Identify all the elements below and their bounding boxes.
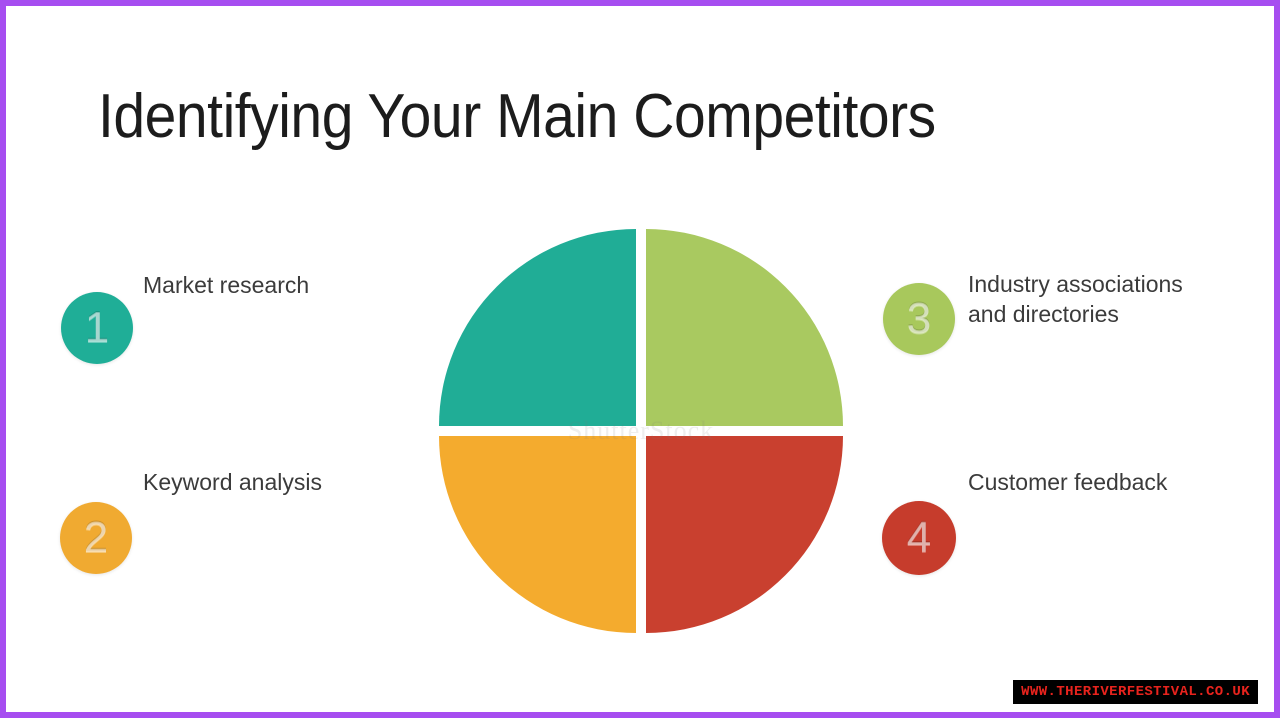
step-badge-3[interactable]: 3 <box>883 283 955 355</box>
slide-content-area: Identifying Your Main Competitors Shutte… <box>6 6 1274 712</box>
pie-slice-keyword-analysis[interactable] <box>439 436 636 633</box>
pie-slice-customer-feedback[interactable] <box>646 436 843 633</box>
pie-slice-fill <box>646 436 843 633</box>
step-label-4: Customer feedback <box>968 467 1167 497</box>
pie-slice-fill <box>439 436 636 633</box>
step-label-1: Market research <box>143 270 309 300</box>
step-badge-4[interactable]: 4 <box>882 501 956 575</box>
page-title: Identifying Your Main Competitors <box>98 86 936 148</box>
step-badge-number: 1 <box>85 306 109 350</box>
step-badge-1[interactable]: 1 <box>61 292 133 364</box>
step-badge-2[interactable]: 2 <box>60 502 132 574</box>
pie-slice-fill <box>439 229 636 426</box>
pie-slice-fill <box>646 229 843 426</box>
step-badge-number: 3 <box>907 297 931 341</box>
step-label-2: Keyword analysis <box>143 467 322 497</box>
site-url-watermark: WWW.THERIVERFESTIVAL.CO.UK <box>1013 680 1258 704</box>
step-badge-number: 4 <box>907 516 931 560</box>
pie-chart: ShutterStock <box>435 225 847 637</box>
step-label-3: Industry associations and directories <box>968 269 1183 329</box>
slide-canvas: Identifying Your Main Competitors Shutte… <box>0 0 1280 718</box>
pie-slice-industry-associations[interactable] <box>646 229 843 426</box>
step-badge-number: 2 <box>84 516 108 560</box>
pie-slice-market-research[interactable] <box>439 229 636 426</box>
